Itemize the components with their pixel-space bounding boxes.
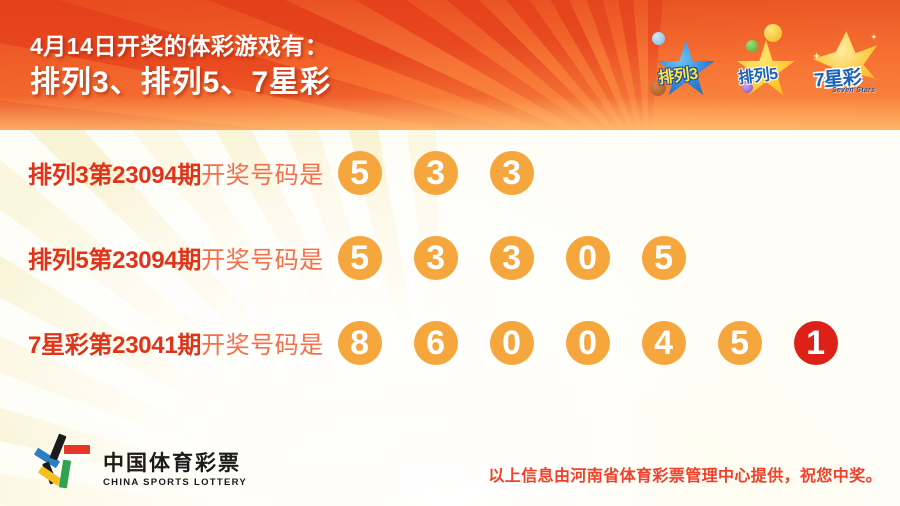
footer-disclaimer: 以上信息由河南省体育彩票管理中心提供，祝您中奖。 bbox=[488, 462, 882, 486]
pailie3-logo[interactable]: 排列3 bbox=[650, 24, 728, 106]
header-title-block: 4月14日开奖的体彩游戏有： 排列3、排列5、7星彩 bbox=[30, 32, 331, 103]
result-label-suffix: 开奖号码是 bbox=[201, 162, 324, 189]
result-row: 排列3第23094期开奖号码是 5 3 3 bbox=[0, 130, 900, 215]
lottery-ball: 6 bbox=[414, 321, 458, 365]
sparkle-icon: ✦ bbox=[812, 50, 821, 63]
header-line-2: 排列3、排列5、7星彩 bbox=[30, 63, 331, 104]
header-line-1: 4月14日开奖的体彩游戏有： bbox=[30, 32, 331, 61]
lottery-ball: 3 bbox=[414, 236, 458, 280]
result-numbers: 8 6 0 0 4 5 1 bbox=[338, 321, 870, 365]
result-label-suffix: 开奖号码是 bbox=[201, 247, 324, 274]
sparkle-icon: ✦ bbox=[870, 32, 878, 43]
result-row-label: 7星彩第23041期开奖号码是 bbox=[28, 325, 324, 360]
results-list: 排列3第23094期开奖号码是 5 3 3 排列5第23094期开奖号码是 5 … bbox=[0, 130, 900, 385]
lottery-ball: 3 bbox=[490, 236, 534, 280]
brand-name-cn: 中国体育彩票 bbox=[103, 452, 247, 475]
pailie3-logo-label: 排列3 bbox=[657, 60, 699, 89]
result-game-and-issue: 7星彩第23041期 bbox=[28, 332, 201, 359]
lottery-ball: 8 bbox=[338, 321, 382, 365]
result-row: 排列5第23094期开奖号码是 5 3 3 0 5 bbox=[0, 215, 900, 300]
result-label-suffix: 开奖号码是 bbox=[201, 332, 324, 359]
result-row-label: 排列3第23094期开奖号码是 bbox=[28, 155, 324, 190]
decorative-ball-icon bbox=[652, 32, 665, 45]
lottery-results-banner: 4月14日开奖的体彩游戏有： 排列3、排列5、7星彩 排列3 排列5 ✦ ✦ 7… bbox=[0, 0, 900, 506]
game-logos: 排列3 排列5 ✦ ✦ 7星彩 Seven Stars bbox=[650, 24, 888, 106]
china-sports-lottery-logo: 中国体育彩票 CHINA SPORTS LOTTERY bbox=[34, 432, 247, 490]
seven-stars-logo-subtitle: Seven Stars bbox=[832, 87, 875, 94]
result-numbers: 5 3 3 0 5 bbox=[338, 236, 718, 280]
lottery-brand-mark-icon bbox=[34, 432, 94, 490]
lottery-ball: 5 bbox=[718, 321, 762, 365]
result-numbers: 5 3 3 bbox=[338, 151, 566, 195]
lottery-ball: 3 bbox=[490, 151, 534, 195]
decorative-ball-icon bbox=[764, 24, 782, 42]
lottery-ball-special: 1 bbox=[794, 321, 838, 365]
decorative-ball-icon bbox=[746, 40, 758, 52]
lottery-ball: 0 bbox=[490, 321, 534, 365]
pailie5-logo[interactable]: 排列5 bbox=[730, 24, 808, 106]
brand-name-en: CHINA SPORTS LOTTERY bbox=[103, 477, 247, 488]
pailie5-logo-label: 排列5 bbox=[737, 60, 779, 89]
result-row-label: 排列5第23094期开奖号码是 bbox=[28, 240, 324, 275]
lottery-ball: 3 bbox=[414, 151, 458, 195]
lottery-ball: 0 bbox=[566, 321, 610, 365]
lottery-ball: 0 bbox=[566, 236, 610, 280]
seven-stars-logo[interactable]: ✦ ✦ 7星彩 Seven Stars bbox=[810, 24, 888, 106]
lottery-ball: 5 bbox=[338, 236, 382, 280]
result-row: 7星彩第23041期开奖号码是 8 6 0 0 4 5 1 bbox=[0, 300, 900, 385]
result-game-and-issue: 排列3第23094期 bbox=[28, 162, 201, 189]
lottery-ball: 4 bbox=[642, 321, 686, 365]
result-game-and-issue: 排列5第23094期 bbox=[28, 247, 201, 274]
footer: 中国体育彩票 CHINA SPORTS LOTTERY 以上信息由河南省体育彩票… bbox=[0, 420, 900, 506]
lottery-ball: 5 bbox=[642, 236, 686, 280]
lottery-ball: 5 bbox=[338, 151, 382, 195]
lottery-brand-text: 中国体育彩票 CHINA SPORTS LOTTERY bbox=[103, 452, 247, 490]
